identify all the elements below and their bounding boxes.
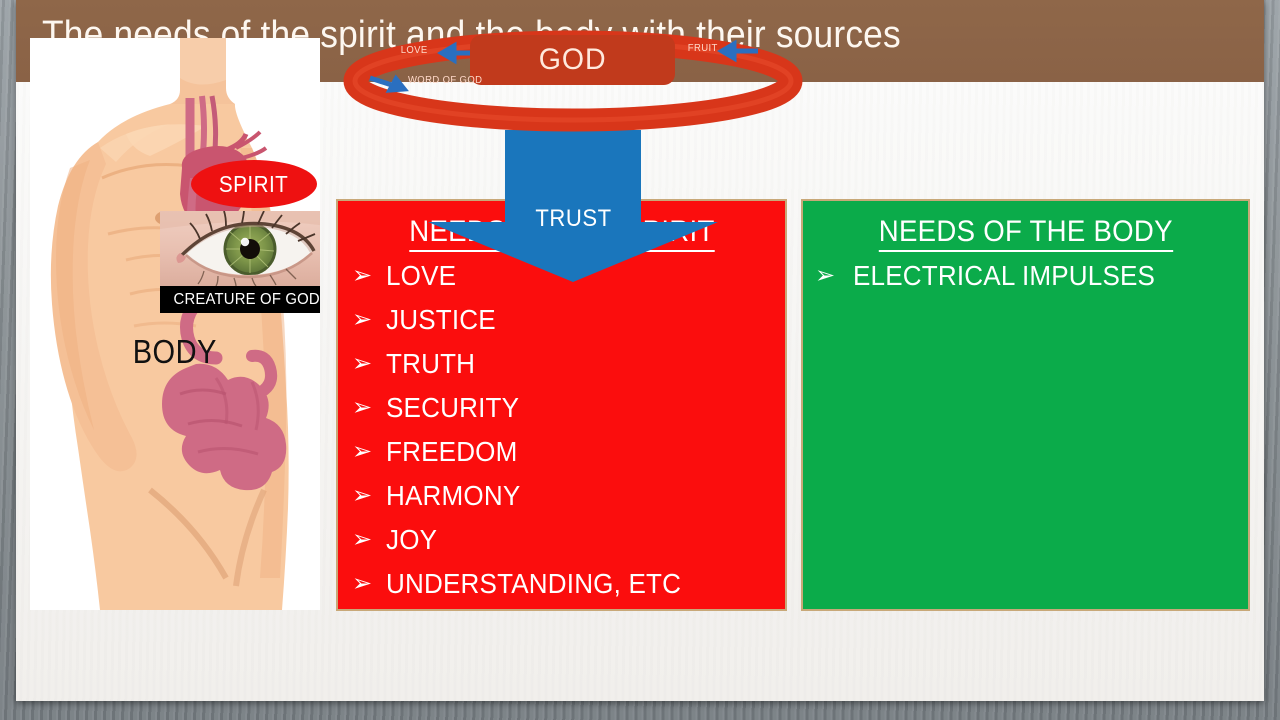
- god-source-diagram: GOD LOVE FRUIT WORD OF GOD TRUST: [338, 30, 808, 282]
- spirit-need-label: TRUTH: [386, 342, 475, 386]
- ring-label-love: LOVE: [401, 45, 428, 56]
- list-item: ➢JUSTICE: [352, 298, 785, 342]
- spirit-badge-label: SPIRIT: [219, 171, 288, 198]
- list-item: ➢UNDERSTANDING, ETC: [352, 562, 785, 606]
- ring-label-word-of-god: WORD OF GOD: [408, 75, 482, 86]
- god-box: GOD: [470, 35, 675, 85]
- arrow-bullet-icon: ➢: [352, 430, 386, 474]
- needs-of-the-body-panel: NEEDS OF THE BODY ➢ELECTRICAL IMPULSES: [801, 199, 1250, 611]
- arrow-bullet-icon: ➢: [352, 518, 386, 562]
- ring-label-fruit: FRUIT: [688, 43, 718, 54]
- list-item: ➢HARMONY: [352, 474, 785, 518]
- list-item: ➢ELECTRICAL IMPULSES: [815, 254, 1248, 298]
- god-label: GOD: [539, 43, 607, 77]
- spirit-need-label: JOY: [386, 518, 437, 562]
- spirit-need-label: FREEDOM: [386, 430, 518, 474]
- body-label-text: BODY: [133, 333, 217, 371]
- trust-arrow-label: TRUST: [338, 205, 808, 233]
- body-needs-list: ➢ELECTRICAL IMPULSES: [803, 254, 1248, 298]
- spirit-need-label: HARMONY: [386, 474, 520, 518]
- arrow-bullet-icon: ➢: [352, 562, 386, 606]
- spirit-need-label: SECURITY: [386, 386, 519, 430]
- presentation-slide: The needs of the spirit and the body wit…: [16, 0, 1264, 701]
- arrow-bullet-icon: ➢: [352, 474, 386, 518]
- arrow-bullet-icon: ➢: [352, 386, 386, 430]
- body-illustration-panel: SPIRIT: [30, 38, 320, 610]
- eye-image-block: CREATURE OF GOD: [160, 211, 320, 313]
- eye-caption-label: CREATURE OF GOD: [173, 291, 319, 309]
- human-torso-icon: [30, 38, 320, 610]
- body-need-label: ELECTRICAL IMPULSES: [853, 254, 1155, 298]
- body-panel-title: NEEDS OF THE BODY: [803, 215, 1248, 252]
- body-panel-title-text: NEEDS OF THE BODY: [878, 215, 1172, 252]
- eye-icon: [160, 211, 320, 286]
- list-item: ➢JOY: [352, 518, 785, 562]
- screenshot-stage: The needs of the spirit and the body wit…: [0, 0, 1280, 720]
- spirit-need-label: UNDERSTANDING, ETC: [386, 562, 681, 606]
- list-item: ➢FREEDOM: [352, 430, 785, 474]
- list-item: ➢SECURITY: [352, 386, 785, 430]
- body-label: BODY: [30, 333, 320, 371]
- eye-caption-bar: CREATURE OF GOD: [160, 286, 320, 313]
- spirit-need-label: JUSTICE: [386, 298, 496, 342]
- arrow-bullet-icon: ➢: [352, 342, 386, 386]
- arrow-bullet-icon: ➢: [815, 254, 853, 298]
- trust-arrow-label-text: TRUST: [535, 205, 611, 233]
- spirit-needs-list: ➢LOVE➢JUSTICE➢TRUTH➢SECURITY➢FREEDOM➢HAR…: [338, 254, 785, 606]
- arrow-bullet-icon: ➢: [352, 298, 386, 342]
- list-item: ➢TRUTH: [352, 342, 785, 386]
- spirit-badge: SPIRIT: [191, 160, 317, 208]
